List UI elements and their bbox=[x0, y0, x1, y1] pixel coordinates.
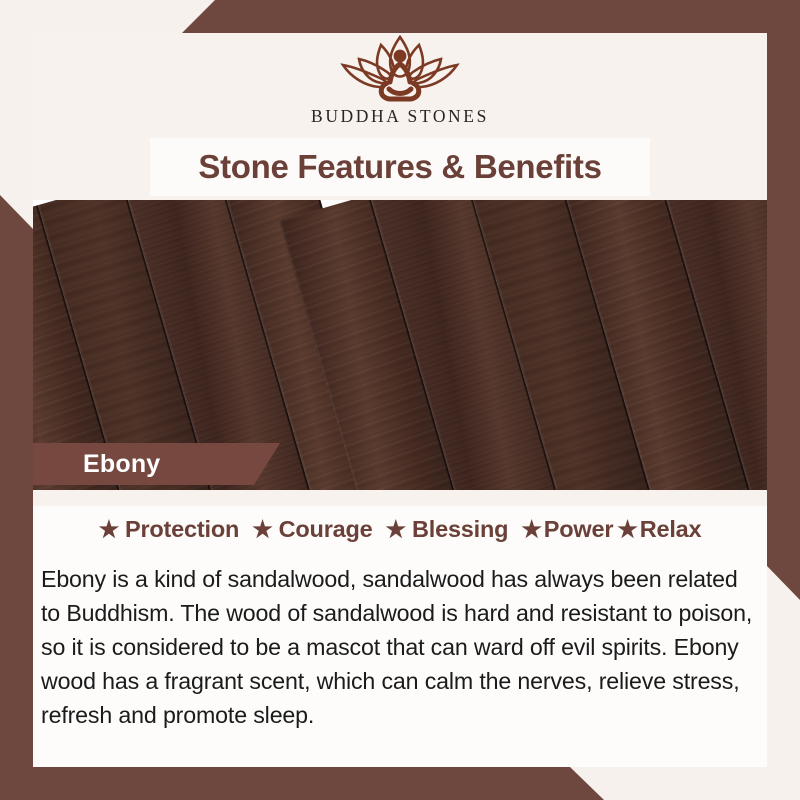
star-icon: ★ bbox=[252, 518, 272, 541]
description-text: Ebony is a kind of sandalwood, sandalwoo… bbox=[41, 562, 759, 732]
benefit-label: Blessing bbox=[412, 516, 508, 543]
benefit-item: ★ Courage bbox=[252, 516, 372, 543]
star-icon: ★ bbox=[386, 518, 406, 541]
page-title: Stone Features & Benefits bbox=[33, 138, 767, 196]
frame-band-top bbox=[0, 0, 800, 33]
brand-header: BUDDHA STONES bbox=[33, 33, 767, 138]
frame-band-bottom bbox=[0, 767, 800, 800]
benefit-label: Courage bbox=[279, 516, 373, 543]
frame-band-left bbox=[0, 0, 33, 800]
benefit-item: ★ Blessing bbox=[386, 516, 509, 543]
lotus-meditation-logo-icon bbox=[325, 29, 475, 105]
benefit-label: Relax bbox=[640, 516, 702, 543]
section-divider bbox=[33, 490, 767, 506]
benefit-label: Protection bbox=[125, 516, 239, 543]
stone-name-label: Ebony bbox=[83, 450, 160, 479]
star-icon: ★ bbox=[99, 518, 119, 541]
description-section: ★ Protection ★ Courage ★ Blessing ★ Powe… bbox=[33, 490, 767, 767]
benefit-label: Power bbox=[544, 516, 614, 543]
benefit-item: ★ Power bbox=[521, 516, 613, 543]
brand-name: BUDDHA STONES bbox=[311, 106, 489, 127]
star-icon: ★ bbox=[521, 518, 541, 541]
benefit-item: ★ Relax bbox=[617, 516, 701, 543]
title-band: Stone Features & Benefits bbox=[33, 138, 767, 202]
frame-band-right bbox=[767, 0, 800, 800]
poster-root: BUDDHA STONES Stone Features & Benefits … bbox=[0, 0, 800, 800]
star-icon: ★ bbox=[617, 518, 637, 541]
benefit-item: ★ Protection bbox=[99, 516, 240, 543]
benefits-row: ★ Protection ★ Courage ★ Blessing ★ Powe… bbox=[33, 516, 767, 543]
plank-stack-right bbox=[279, 200, 767, 490]
